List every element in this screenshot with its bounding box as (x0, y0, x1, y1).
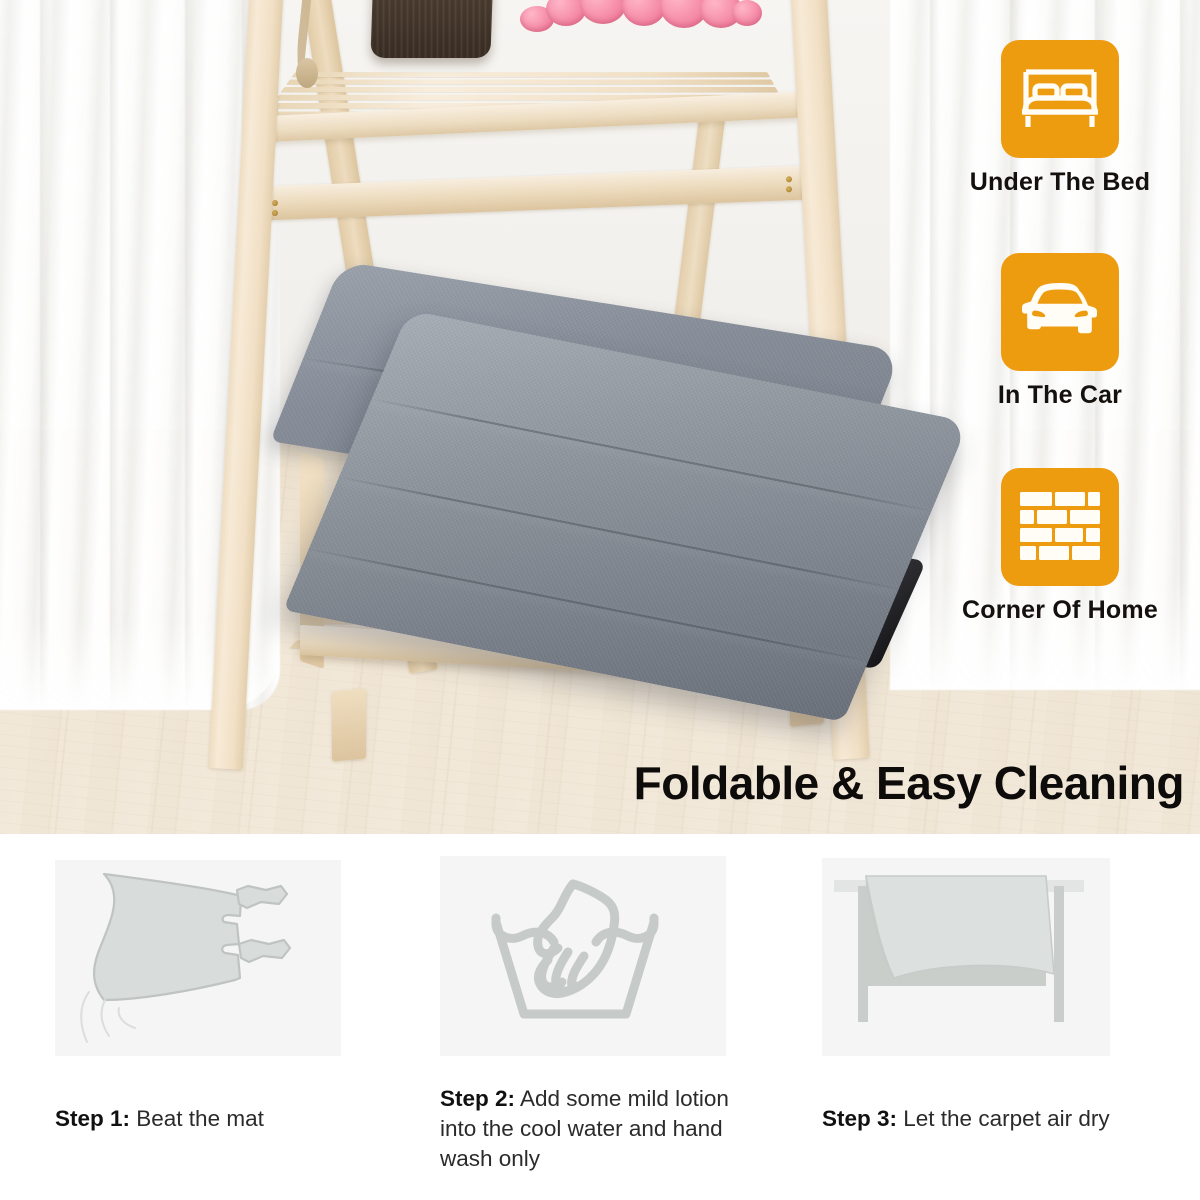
step-label: Step 3: (822, 1106, 897, 1131)
bed-icon (1001, 40, 1119, 158)
step-card-1: Step 1: Beat the mat (55, 860, 341, 1134)
step-label: Step 2: (440, 1086, 515, 1111)
step-caption: Step 3: Let the carpet air dry (822, 1104, 1162, 1134)
product-infographic: Under The Bed In The Car (0, 0, 1200, 1200)
step-card-3: Step 3: Let the carpet air dry (822, 858, 1110, 1134)
page-headline: Foldable & Easy Cleaning (634, 756, 1184, 810)
brick-wall-icon (1001, 468, 1119, 586)
feature-item-in-the-car: In The Car (934, 253, 1186, 410)
feature-label: In The Car (934, 381, 1186, 410)
step-caption: Step 2: Add some mild lotion into the co… (440, 1084, 740, 1174)
feature-item-under-the-bed: Under The Bed (934, 40, 1186, 197)
step-caption: Step 1: Beat the mat (55, 1104, 385, 1134)
plant-pot (370, 0, 493, 58)
feature-label: Corner Of Home (934, 596, 1186, 625)
rack-front-leg-left (209, 0, 284, 770)
feature-label: Under The Bed (934, 168, 1186, 197)
product-photo: Under The Bed In The Car (0, 0, 1200, 834)
care-instructions-section: Step 1: Beat the mat (0, 834, 1200, 1200)
rope-knot-ball (296, 58, 318, 88)
air-dry-rack-icon (822, 858, 1110, 1056)
feature-list: Under The Bed In The Car (934, 40, 1186, 625)
folded-gray-mat (280, 300, 900, 700)
step-card-2: Step 2: Add some mild lotion into the co… (440, 856, 726, 1174)
beating-mat-icon (55, 860, 341, 1056)
feature-item-corner-of-home: Corner Of Home (934, 468, 1186, 625)
step-description: Let the carpet air dry (897, 1106, 1110, 1131)
hand-wash-basin-icon (440, 856, 726, 1056)
step-label: Step 1: (55, 1106, 130, 1131)
car-icon (1001, 253, 1119, 371)
pink-rope-toy (518, 0, 758, 42)
step-description: Beat the mat (130, 1106, 264, 1131)
